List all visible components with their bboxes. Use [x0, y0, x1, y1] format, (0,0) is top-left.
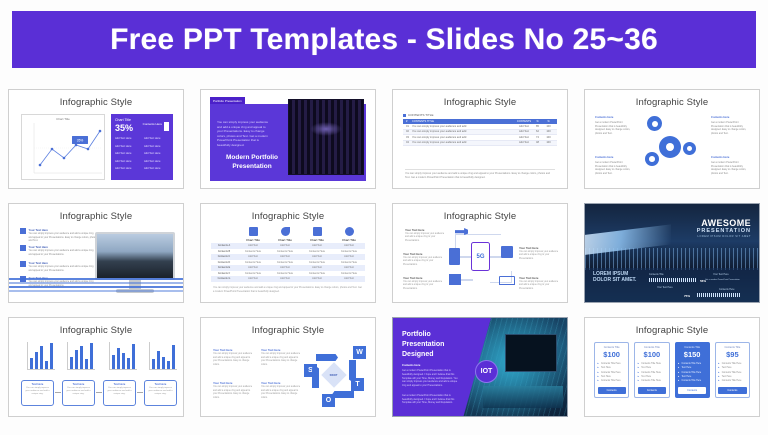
callout-top-left: Contents Here Get a modern PowerPoint Pr… — [595, 116, 635, 135]
text-body: You can simply impress your audience and… — [213, 386, 252, 398]
bullet-text: Your Text Here You can simply impress yo… — [29, 245, 99, 256]
td: 62 — [532, 130, 543, 133]
plan-cta-button[interactable]: Contents — [638, 387, 666, 394]
heading-line-1: Modern Portfolio — [226, 154, 278, 161]
td: Add Text — [516, 125, 532, 128]
td: Add Text — [237, 266, 269, 269]
plan-price: $95 — [718, 350, 746, 359]
caption-bottom-right: Your Text Here You can simply impress yo… — [519, 276, 561, 291]
panel-col-right: Add Text Here Add Text Here Add Text Her… — [144, 137, 169, 170]
heading-line-2: Presentation — [402, 341, 444, 348]
bullet-square-icon — [20, 245, 26, 251]
panel-contents-label: Contents Here — [143, 123, 162, 127]
td: Add Text — [237, 244, 269, 247]
heading-line-1: Portfolio — [402, 331, 431, 338]
stat-bar-1 — [649, 278, 697, 282]
table-caption: CONTENTS TITLE — [408, 113, 433, 117]
td: Add Text — [301, 277, 333, 280]
slide-title: Infographic Style — [585, 97, 759, 108]
desk-surface — [483, 386, 563, 408]
slide-body-text: You can simply impress your audience and… — [217, 120, 269, 147]
heading: AWESOME — [697, 218, 751, 228]
plan-feature: Contents Title Here — [718, 379, 746, 383]
slide-title: Infographic Style — [393, 211, 567, 222]
td: Contents Here — [269, 250, 301, 253]
td: Contents E — [211, 266, 237, 269]
td: 74 — [532, 136, 543, 139]
callout-title: Contents Here — [711, 116, 751, 120]
pricing-table: Contents Title $100 Contents Title Here … — [594, 342, 750, 398]
table-row: 04 You can simply impress your audience … — [403, 141, 557, 147]
gear-icon — [345, 227, 354, 236]
subtext-body-2: Get a modern PowerPoint Presentation tha… — [402, 394, 454, 404]
column-label: Chart Title — [333, 238, 365, 242]
td: Add Text — [237, 277, 269, 280]
text-body: You can simply impress your audience and… — [261, 353, 300, 365]
td: Contents Here — [269, 261, 301, 264]
bar-chart-3 — [105, 342, 137, 372]
bars — [30, 343, 53, 369]
th: % — [532, 120, 543, 123]
bullet-body: You can simply impress your audience and… — [29, 265, 94, 272]
slide-cell-1[interactable]: Infographic Style Chart Title 35% — [0, 82, 192, 196]
swot-center-label: SWOT — [330, 374, 338, 377]
building-icon — [449, 274, 461, 285]
column-header: Chart Title — [269, 227, 301, 242]
column-header: Chart Title — [237, 227, 269, 242]
panel-icon — [164, 122, 169, 131]
callout-title: Contents Here — [711, 156, 751, 160]
arrow-right — [349, 360, 356, 382]
bar-chart-1 — [23, 342, 55, 372]
pricing-card-1[interactable]: Contents Title $100 Contents Title Here … — [594, 342, 629, 398]
slide-heading: Portfolio Presentation Designed — [402, 330, 444, 360]
plan-name: Contents Title — [678, 346, 706, 349]
step-title: Text Here — [24, 383, 51, 386]
table-row: Contents GAdd TextAdd TextAdd TextAdd Te… — [211, 276, 365, 282]
slide-heading: Modern Portfolio Presentation — [217, 153, 287, 171]
step-body: You can simply impress your audience and… — [65, 387, 92, 397]
subtext-title: Contents Here — [402, 364, 458, 368]
column-headers: Chart Title Chart Title Chart Title Char… — [237, 227, 365, 242]
decorative-stripes — [9, 278, 183, 298]
step-box-1: Text Here You can simply impress your au… — [21, 380, 54, 406]
step-title: Text Here — [106, 383, 133, 386]
plan-name: Contents Title — [638, 346, 666, 349]
bullet-square-icon — [20, 261, 26, 267]
swot-center: SWOT — [321, 362, 346, 387]
step-title: Text Here — [147, 383, 174, 386]
callout-body: Get a modern PowerPoint Presentation tha… — [711, 121, 746, 135]
slide-thumbnail-10[interactable]: Infographic Style Your Text Here You can… — [200, 317, 376, 417]
td: Contents C — [211, 255, 237, 258]
connector-line — [459, 256, 471, 258]
bullet-item: Your Text Here You can simply impress yo… — [20, 228, 98, 243]
plan-feature: Contents Title Here — [598, 379, 626, 383]
text-title: Your Text Here — [261, 381, 303, 385]
caption-title: Your Text Here — [519, 246, 561, 250]
step-box-2: Text Here You can simply impress your au… — [62, 380, 95, 406]
slide-subtext-2: Get a modern PowerPoint Presentation tha… — [402, 394, 458, 405]
callout-body: Get a modern PowerPoint Presentation tha… — [595, 121, 630, 135]
swot-text-3: Your Text Here You can simply impress yo… — [213, 381, 255, 400]
caption-body: You can simply impress your audience and… — [519, 251, 558, 260]
server-room-image — [288, 99, 364, 175]
td: Contents Here — [237, 261, 269, 264]
slide-thumbnail-2[interactable]: Portfolio Presentation You can simply im… — [200, 89, 376, 189]
td: Contents F — [211, 272, 237, 275]
stat-bar-2 — [697, 293, 741, 297]
table-note: You can simply impress your audience and… — [405, 169, 555, 180]
bullet-body: You can simply impress your audience and… — [29, 249, 94, 256]
panel-row: Add Text Here — [144, 160, 169, 163]
td: Add Text — [333, 277, 365, 280]
text-title: Your Text Here — [213, 381, 255, 385]
slide-cell-5[interactable]: Infographic Style Your Text Here You can… — [0, 196, 192, 310]
swot-letter-w: W — [353, 346, 366, 359]
arrow-up — [316, 354, 338, 361]
panel-row: Add Text Here — [115, 137, 140, 140]
text-body: You can simply impress your audience and… — [261, 386, 300, 398]
column-header: Chart Title — [301, 227, 333, 242]
stat-percent-2: 75% — [684, 294, 690, 298]
td: Add Text — [301, 244, 333, 247]
slide-cell-3[interactable]: Infographic Style CONTENTS TITLE # CONTE… — [384, 82, 576, 196]
subheading: PRESENTATION — [697, 228, 751, 234]
td: Contents Here — [301, 272, 333, 275]
slide-cell-9[interactable]: Infographic Style T — [0, 310, 192, 424]
panel-row: Add Text Here — [115, 167, 140, 170]
panel-chart-title: Chart Title — [115, 118, 131, 122]
caption-bottom-left: Your Text Here You can simply impress yo… — [403, 276, 445, 291]
panel-col-left: Add Text Here Add Text Here Add Text Her… — [115, 137, 140, 170]
th: CONTENTS TITLE — [412, 120, 516, 123]
slide-title: Infographic Style — [201, 325, 375, 336]
bullet-square-icon — [20, 228, 26, 234]
plan-feature: Contents Title Here — [678, 379, 706, 383]
callout-body: Get a modern PowerPoint Presentation tha… — [595, 161, 630, 175]
td: 48 — [532, 141, 543, 144]
caption-body: You can simply impress your audience and… — [519, 281, 558, 290]
caption-mid-left: Your Text Here You can simply impress yo… — [403, 252, 445, 267]
tagline: LOREM IPSUM DOLOR SIT AMET — [697, 235, 751, 238]
side-label-2: Contents Here — [719, 288, 734, 291]
bars — [112, 343, 135, 369]
td: Add Text — [301, 266, 333, 269]
svg-text:35%: 35% — [77, 139, 84, 143]
monitor-image — [95, 232, 175, 280]
caption-body: You can simply impress your audience and… — [405, 233, 444, 242]
iot-badge: IOT — [475, 360, 498, 383]
panel-row: Add Text Here — [144, 167, 169, 170]
caption-title: Your Text Here — [403, 276, 445, 280]
comparison-table: Contents AAdd TextAdd TextAdd TextAdd Te… — [211, 243, 365, 282]
bullet-text: Your Text Here You can simply impress yo… — [29, 228, 99, 243]
heading-line-3: Designed — [402, 351, 434, 358]
td: Contents Here — [333, 250, 365, 253]
td: You can simply impress your audience and… — [412, 136, 516, 139]
column-header: Chart Title — [333, 227, 365, 242]
slide-cell-7[interactable]: Infographic Style 5G Your Text Here You … — [384, 196, 576, 310]
td: Add Text — [333, 244, 365, 247]
td: Add Text — [333, 255, 365, 258]
slide-cell-8[interactable]: AWESOME PRESENTATION LOREM IPSUM DOLOR S… — [576, 196, 768, 310]
connector-line — [459, 279, 473, 281]
data-table: # CONTENTS TITLE CONTENTS % % 01 You can… — [403, 119, 557, 146]
swot-text-4: Your Text Here You can simply impress yo… — [261, 381, 303, 400]
td: Add Text — [301, 255, 333, 258]
caption-title: Your Text Here — [519, 276, 561, 280]
arrow-1 — [55, 392, 61, 393]
plan-price: $150 — [678, 350, 706, 359]
td: Add Text — [333, 266, 365, 269]
slide-thumbnail-11[interactable]: Portfolio Presentation Designed Contents… — [392, 317, 568, 417]
arrow-down — [332, 391, 354, 398]
save-icon — [313, 227, 322, 236]
slide-thumbnail-1[interactable]: Infographic Style Chart Title 35% — [8, 89, 184, 189]
td: Contents Here — [237, 250, 269, 253]
phone-label: 5G — [476, 254, 484, 260]
bar-chart-2 — [63, 342, 95, 372]
step-body: You can simply impress your audience and… — [24, 387, 51, 397]
laptop-icon — [499, 276, 515, 285]
td: Contents Here — [333, 272, 365, 275]
lorem-line-2: DOLOR SIT AMET. — [593, 277, 636, 283]
line-chart: Chart Title 35% — [21, 114, 105, 180]
slide-title: Infographic Style — [9, 325, 183, 336]
td: Add Text — [237, 255, 269, 258]
panel-row: Add Text Here — [144, 137, 169, 140]
slide-tag: Portfolio Presentation — [210, 97, 245, 104]
callout-body: Get a modern PowerPoint Presentation tha… — [711, 161, 746, 175]
panel-row: Add Text Here — [115, 145, 140, 148]
bullet-item: Your Text Here You can simply impress yo… — [20, 245, 98, 256]
td: 85 — [532, 125, 543, 128]
td: Contents D — [211, 261, 237, 264]
arrow-3 — [137, 392, 143, 393]
pricing-card-4[interactable]: Contents Title $95 Contents Title Here T… — [715, 342, 750, 398]
callout-title: Contents Here — [595, 116, 635, 120]
step-box-3: Text Here You can simply impress your au… — [103, 380, 136, 406]
slide-title: Infographic Style — [9, 97, 183, 108]
chart-title: Chart Title — [22, 117, 104, 121]
plan-cta-button[interactable]: Contents — [718, 387, 746, 394]
slide-subtext: Contents Here Get a modern PowerPoint Pr… — [402, 364, 458, 388]
td: Contents Here — [237, 272, 269, 275]
gear-icon-bottom — [645, 152, 659, 166]
plan-name: Contents Title — [718, 346, 746, 349]
stat-label-2: Your Text Here — [657, 286, 673, 289]
bullet-text: Your Text Here You can simply impress yo… — [29, 261, 99, 272]
td: Contents G — [211, 277, 237, 280]
slide-cell-6[interactable]: Infographic Style Chart Title Chart Titl… — [192, 196, 384, 310]
bullet-item: Your Text Here You can simply impress yo… — [20, 261, 98, 272]
panel-percent: 35% — [115, 123, 133, 133]
gear-icon-large — [659, 136, 681, 158]
swot-diagram: S W O T SWOT — [304, 340, 366, 408]
bars — [152, 343, 175, 369]
step-title: Text Here — [65, 383, 92, 386]
window-icon — [249, 227, 258, 236]
text-body: You can simply impress your audience and… — [213, 353, 252, 365]
callout-title: Contents Here — [595, 156, 635, 160]
table-note: You can simply impress your audience and… — [213, 286, 363, 293]
gear-icon-right — [683, 142, 696, 155]
text-title: Your Text Here — [213, 348, 255, 352]
td: Add Text — [269, 277, 301, 280]
column-label: Chart Title — [237, 238, 269, 242]
td: 100 — [543, 130, 554, 133]
monitor-screen — [97, 234, 173, 278]
td: Add Text — [269, 255, 301, 258]
phone-5g-icon[interactable]: 5G — [471, 242, 490, 271]
td: Add Text — [269, 244, 301, 247]
td: You can simply impress your audience and… — [412, 125, 516, 128]
td: 100 — [543, 136, 554, 139]
column-label: Chart Title — [269, 238, 301, 242]
caption-title: Your Text Here — [403, 252, 445, 256]
page-banner: Free PPT Templates - Slides No 25~36 — [12, 11, 756, 68]
slide-cell-12[interactable]: Infographic Style Contents Title $100 Co… — [576, 310, 768, 424]
swot-text-2: Your Text Here You can simply impress yo… — [261, 348, 303, 367]
step-body: You can simply impress your audience and… — [106, 387, 133, 397]
slide-thumbnail-6[interactable]: Infographic Style Chart Title Chart Titl… — [200, 203, 376, 303]
callout-bottom-right: Contents Here Get a modern PowerPoint Pr… — [711, 156, 751, 175]
td: You can simply impress your audience and… — [412, 130, 516, 133]
lorem-block: LOREM IPSUM DOLOR SIT AMET. — [593, 271, 636, 285]
side-label-1: Your Text Here — [713, 273, 729, 276]
text-title: Your Text Here — [261, 348, 303, 352]
th: CONTENTS — [516, 120, 532, 123]
arrow-left — [312, 366, 319, 388]
column-label: Chart Title — [301, 238, 333, 242]
plan-price: $100 — [638, 350, 666, 359]
slide-cell-11[interactable]: Portfolio Presentation Designed Contents… — [384, 310, 576, 424]
gear-icon-top — [647, 116, 662, 131]
slide-thumbnail-grid: Infographic Style Chart Title 35% — [0, 82, 768, 432]
arrow-2 — [96, 392, 102, 393]
panel-rows: Add Text Here Add Text Here Add Text Her… — [115, 137, 169, 170]
slide-thumbnail-12[interactable]: Infographic Style Contents Title $100 Co… — [584, 317, 760, 417]
monitor-image — [505, 334, 557, 372]
subtext-body-1: Get a modern PowerPoint Presentation tha… — [402, 369, 458, 387]
td: Contents Here — [333, 261, 365, 264]
th: % — [543, 120, 554, 123]
line-chart-svg: 35% — [22, 115, 106, 181]
stat-label-1: Contents Title — [649, 273, 664, 276]
slide-cell-2[interactable]: Portfolio Presentation You can simply im… — [192, 82, 384, 196]
side-body-1: Get a modern PowerPoint Presentation — [705, 279, 740, 281]
panel-row: Add Text Here — [144, 152, 169, 155]
td: 100 — [543, 141, 554, 144]
caption-top-right: Your Text Here You can simply impress yo… — [519, 246, 561, 261]
step-body: You can simply impress your audience and… — [147, 387, 174, 397]
td: You can simply impress your audience and… — [412, 141, 516, 144]
plan-cta-button[interactable]: Contents — [678, 387, 706, 394]
td: Contents Here — [301, 250, 333, 253]
slide-title: Infographic Style — [585, 325, 759, 336]
bar-chart-4 — [145, 342, 177, 372]
caption-body: You can simply impress your audience and… — [403, 257, 442, 266]
slide-thumbnail-3[interactable]: Infographic Style CONTENTS TITLE # CONTE… — [392, 89, 568, 189]
slide-thumbnail-9[interactable]: Infographic Style T — [8, 317, 184, 417]
pricing-card-2[interactable]: Contents Title $100 Contents Title Here … — [634, 342, 669, 398]
td: Add Text — [516, 136, 532, 139]
lorem-line-1: LOREM IPSUM — [593, 271, 628, 277]
plan-cta-button[interactable]: Contents — [598, 387, 626, 394]
pin-icon — [281, 227, 290, 236]
td: Contents B — [211, 250, 237, 253]
panel-row: Add Text Here — [115, 160, 140, 163]
bullet-marker-icon — [403, 114, 406, 117]
swot-text-1: Your Text Here You can simply impress yo… — [213, 348, 255, 367]
slide-title: Infographic Style — [9, 211, 183, 222]
callout-top-right: Contents Here Get a modern PowerPoint Pr… — [711, 116, 751, 135]
slide-title: Infographic Style — [393, 97, 567, 108]
plan-feature: Contents Title Here — [638, 379, 666, 383]
router-icon — [449, 248, 460, 265]
td: Add Text — [516, 141, 532, 144]
caption-body: You can simply impress your audience and… — [403, 281, 442, 290]
chip-icon — [501, 246, 513, 258]
slide-title: Infographic Style — [201, 211, 375, 222]
td: Contents A — [211, 244, 237, 247]
panel-row: Add Text Here — [144, 145, 169, 148]
callout-bottom-left: Contents Here Get a modern PowerPoint Pr… — [595, 156, 635, 175]
stat-panel: Chart Title 35% Contents Here Add Text H… — [111, 114, 173, 180]
td: Add Text — [269, 266, 301, 269]
slide-thumbnail-7[interactable]: Infographic Style 5G Your Text Here You … — [392, 203, 568, 303]
bullet-body: You can simply impress your audience and… — [29, 232, 97, 242]
bars — [70, 343, 93, 369]
step-box-4: Text Here You can simply impress your au… — [144, 380, 177, 406]
slide-thumbnail-8[interactable]: AWESOME PRESENTATION LOREM IPSUM DOLOR S… — [584, 203, 760, 303]
heading-line-2: Presentation — [232, 163, 271, 170]
plan-name: Contents Title — [598, 346, 626, 349]
template-gallery-page: Free PPT Templates - Slides No 25~36 Inf… — [0, 0, 768, 435]
slide-cell-4[interactable]: Infographic Style Contents Here Get a mo… — [576, 82, 768, 196]
slide-thumbnail-4[interactable]: Infographic Style Contents Here Get a mo… — [584, 89, 760, 189]
page-title: Free PPT Templates - Slides No 25~36 — [110, 23, 658, 57]
caption-title: Your Text Here — [405, 228, 447, 232]
caption-top-left: Your Text Here You can simply impress yo… — [405, 228, 447, 243]
td: Add Text — [516, 130, 532, 133]
td: Contents Here — [269, 272, 301, 275]
td: Contents Here — [301, 261, 333, 264]
pricing-card-3-highlighted[interactable]: Contents Title $150 Contents Title Here … — [675, 342, 710, 398]
title-block: AWESOME PRESENTATION LOREM IPSUM DOLOR S… — [697, 218, 751, 238]
slide-thumbnail-5[interactable]: Infographic Style Your Text Here You can… — [8, 203, 184, 303]
plan-price: $100 — [598, 350, 626, 359]
panel-row: Add Text Here — [115, 152, 140, 155]
slide-cell-10[interactable]: Infographic Style Your Text Here You can… — [192, 310, 384, 424]
td: 100 — [543, 125, 554, 128]
